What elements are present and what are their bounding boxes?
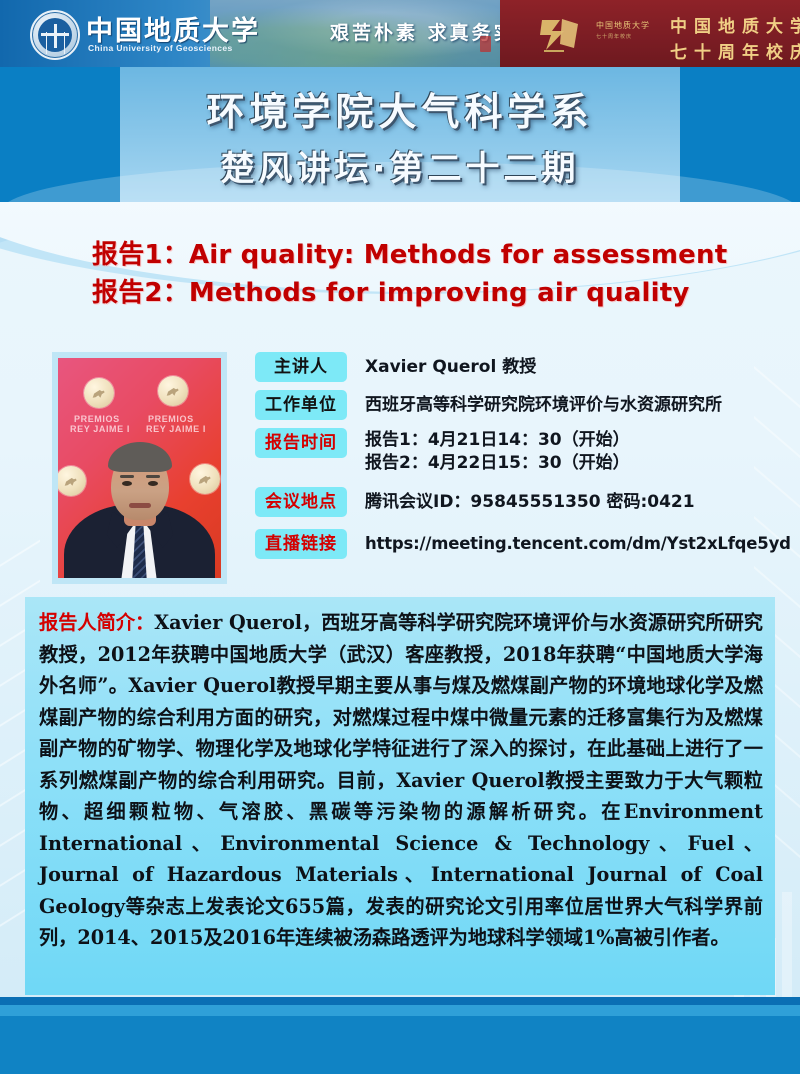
header-left-brand: 中国地质大学 China University of Geosciences 艰… bbox=[0, 0, 500, 67]
report-titles: 报告1：Air quality: Methods for assessment … bbox=[0, 236, 800, 312]
label-live-link: 直播链接 bbox=[255, 529, 347, 559]
university-logo-icon bbox=[30, 10, 80, 60]
speaker-photo: PREMIOS REY JAIME I PREMIOS REY JAIME I bbox=[58, 358, 221, 578]
footer-band-2 bbox=[0, 1005, 800, 1016]
university-name-en: China University of Geosciences bbox=[88, 43, 233, 53]
value-affiliation: 西班牙高等科学研究院环境评价与水资源研究所 bbox=[347, 390, 795, 420]
speaker-bio-heading: 报告人简介： bbox=[39, 611, 154, 634]
event-info-table: 主讲人 Xavier Querol 教授 工作单位 西班牙高等科学研究院环境评价… bbox=[255, 352, 795, 567]
label-speaker: 主讲人 bbox=[255, 352, 347, 382]
info-row-affiliation: 工作单位 西班牙高等科学研究院环境评价与水资源研究所 bbox=[255, 390, 795, 420]
speaker-photo-frame: PREMIOS REY JAIME I PREMIOS REY JAIME I bbox=[52, 352, 227, 584]
award-medal-icon bbox=[84, 378, 114, 408]
speaker-figure bbox=[58, 428, 221, 578]
award-medal-icon bbox=[158, 376, 188, 406]
info-row-venue: 会议地点 腾讯会议ID：95845551350 密码:0421 bbox=[255, 487, 795, 517]
footer-band-1 bbox=[0, 997, 800, 1005]
label-time: 报告时间 bbox=[255, 428, 347, 458]
speaker-bio-panel: 报告人简介：Xavier Querol，西班牙高等科学研究院环境评价与水资源研究… bbox=[25, 597, 775, 995]
anniversary-text-line1: 中国地质大学 bbox=[670, 12, 800, 37]
anniversary-logo-label: 中国地质大学 bbox=[596, 20, 650, 31]
label-venue: 会议地点 bbox=[255, 487, 347, 517]
department-title: 环境学院大气科学系 bbox=[0, 81, 800, 136]
value-time: 报告1：4月21日14：30（开始） 报告2：4月22日15：30（开始） bbox=[347, 428, 795, 475]
value-venue: 腾讯会议ID：95845551350 密码:0421 bbox=[347, 487, 795, 517]
value-speaker: Xavier Querol 教授 bbox=[347, 352, 795, 382]
anniversary-text-line2: 七十周年校庆 bbox=[670, 38, 800, 63]
report-title-1: 报告1：Air quality: Methods for assessment bbox=[92, 236, 800, 274]
seal-icon bbox=[480, 36, 491, 52]
value-live-link[interactable]: https://meeting.tencent.com/dm/Yst2xLfqe… bbox=[347, 529, 795, 559]
photo-backdrop-text: PREMIOS bbox=[148, 414, 194, 424]
anniversary-logo-sublabel: 七十周年校庆 bbox=[596, 33, 632, 40]
info-row-live-link: 直播链接 https://meeting.tencent.com/dm/Yst2… bbox=[255, 529, 795, 559]
value-time-line2: 报告2：4月22日15：30（开始） bbox=[365, 452, 795, 475]
anniversary-logo-icon bbox=[538, 14, 594, 54]
speaker-bio-text: 报告人简介：Xavier Querol，西班牙高等科学研究院环境评价与水资源研究… bbox=[39, 607, 763, 954]
title-banner: 环境学院大气科学系 楚风讲坛·第二十二期 bbox=[0, 67, 800, 202]
label-affiliation: 工作单位 bbox=[255, 390, 347, 420]
poster-header: 中国地质大学 China University of Geosciences 艰… bbox=[0, 0, 800, 67]
anniversary-banner: 中国地质大学 七十周年校庆 中国地质大学 七十周年校庆 bbox=[500, 0, 800, 67]
poster-root: 中国地质大学 China University of Geosciences 艰… bbox=[0, 0, 800, 1076]
lecture-series-title: 楚风讲坛·第二十二期 bbox=[0, 141, 800, 190]
info-row-time: 报告时间 报告1：4月21日14：30（开始） 报告2：4月22日15：30（开… bbox=[255, 428, 795, 475]
value-time-line1: 报告1：4月21日14：30（开始） bbox=[365, 429, 795, 452]
photo-backdrop-text: PREMIOS bbox=[74, 414, 120, 424]
report-title-2: 报告2：Methods for improving air quality bbox=[92, 274, 800, 312]
footer-band-3 bbox=[0, 1016, 800, 1074]
speaker-bio-body: Xavier Querol，西班牙高等科学研究院环境评价与水资源研究所研究教授，… bbox=[39, 611, 763, 949]
info-row-speaker: 主讲人 Xavier Querol 教授 bbox=[255, 352, 795, 382]
